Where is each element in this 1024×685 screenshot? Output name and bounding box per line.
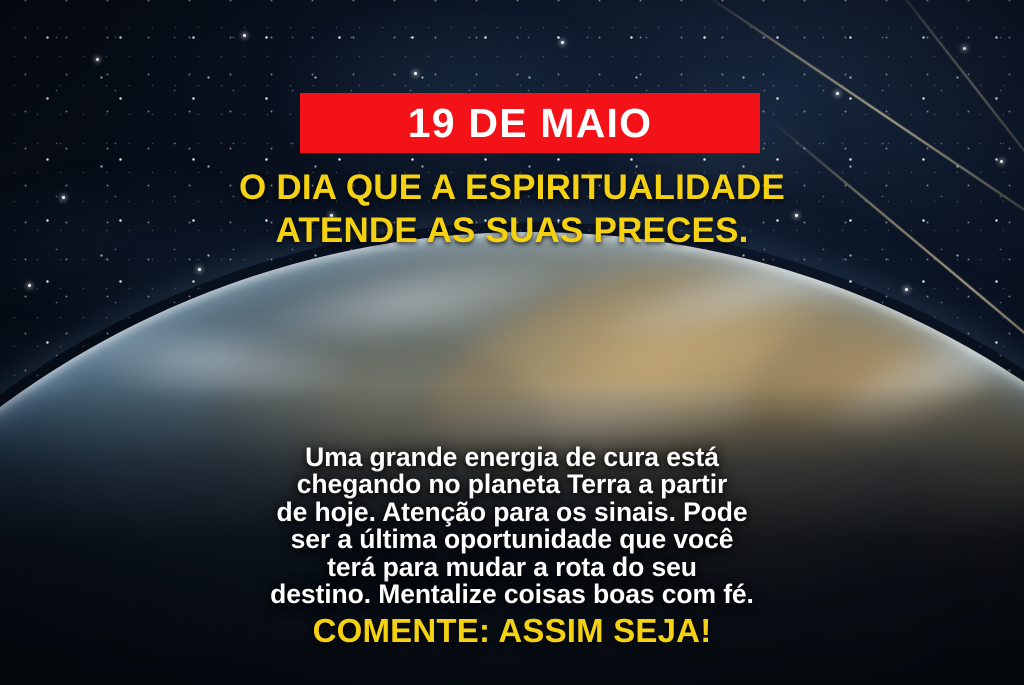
date-banner-label: 19 DE MAIO [408, 103, 652, 144]
poster-canvas: 19 DE MAIO O DIA QUE A ESPIRITUALIDADE A… [0, 0, 1024, 685]
body-line-1: Uma grande energia de cura está [0, 444, 1024, 471]
poster-content: 19 DE MAIO O DIA QUE A ESPIRITUALIDADE A… [0, 0, 1024, 685]
body-copy: Uma grande energia de cura está chegando… [0, 444, 1024, 609]
body-line-6: destino. Mentalize coisas boas com fé. [0, 581, 1024, 608]
body-line-4: ser a última oportunidade que você [0, 526, 1024, 553]
body-line-5: terá para mudar a rota do seu [0, 554, 1024, 581]
headline-line-1: O DIA QUE A ESPIRITUALIDADE [0, 166, 1024, 209]
body-line-3: de hoje. Atenção para os sinais. Pode [0, 499, 1024, 526]
headline-line-2: ATENDE AS SUAS PRECES. [0, 209, 1024, 252]
date-banner: 19 DE MAIO [300, 93, 760, 153]
headline: O DIA QUE A ESPIRITUALIDADE ATENDE AS SU… [0, 166, 1024, 252]
body-line-2: chegando no planeta Terra a partir [0, 471, 1024, 498]
call-to-action-text: COMENTE: ASSIM SEJA! [0, 612, 1024, 650]
